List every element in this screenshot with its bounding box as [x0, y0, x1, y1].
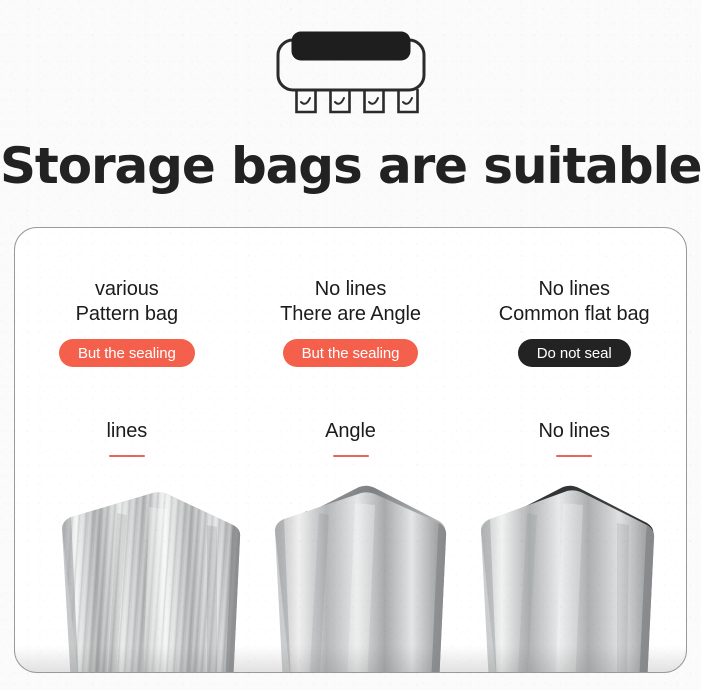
- column-pattern-bag: various Pattern bag But the sealing line…: [15, 228, 239, 672]
- column-title: various Pattern bag: [76, 277, 178, 327]
- column-title-line1: various: [76, 277, 178, 302]
- column-title: No lines Common flat bag: [499, 277, 650, 327]
- label-underline-dash: [556, 455, 592, 457]
- label-underline-dash: [333, 455, 369, 457]
- comparison-columns: various Pattern bag But the sealing line…: [15, 228, 686, 672]
- column-title-line1: No lines: [499, 277, 650, 302]
- column-title-line2: There are Angle: [280, 302, 421, 327]
- column-title-line1: No lines: [280, 277, 421, 302]
- hero-icon-container: [0, 26, 701, 118]
- feature-label: Angle: [325, 419, 376, 443]
- column-title-line2: Common flat bag: [499, 302, 650, 327]
- status-badge: But the sealing: [283, 339, 419, 367]
- vacuum-sealer-icon: [275, 26, 427, 114]
- feature-label: lines: [107, 419, 148, 443]
- page-title: Storage bags are suitable: [0, 134, 701, 198]
- column-angle-bag: No lines There are Angle But the sealing…: [239, 228, 463, 672]
- status-badge: But the sealing: [59, 339, 195, 367]
- column-title: No lines There are Angle: [280, 277, 421, 327]
- comparison-card: various Pattern bag But the sealing line…: [14, 227, 687, 673]
- column-flat-bag: No lines Common flat bag Do not seal No …: [462, 228, 686, 672]
- column-title-line2: Pattern bag: [76, 302, 178, 327]
- feature-label: No lines: [538, 419, 609, 443]
- label-underline-dash: [109, 455, 145, 457]
- status-badge: Do not seal: [518, 339, 631, 367]
